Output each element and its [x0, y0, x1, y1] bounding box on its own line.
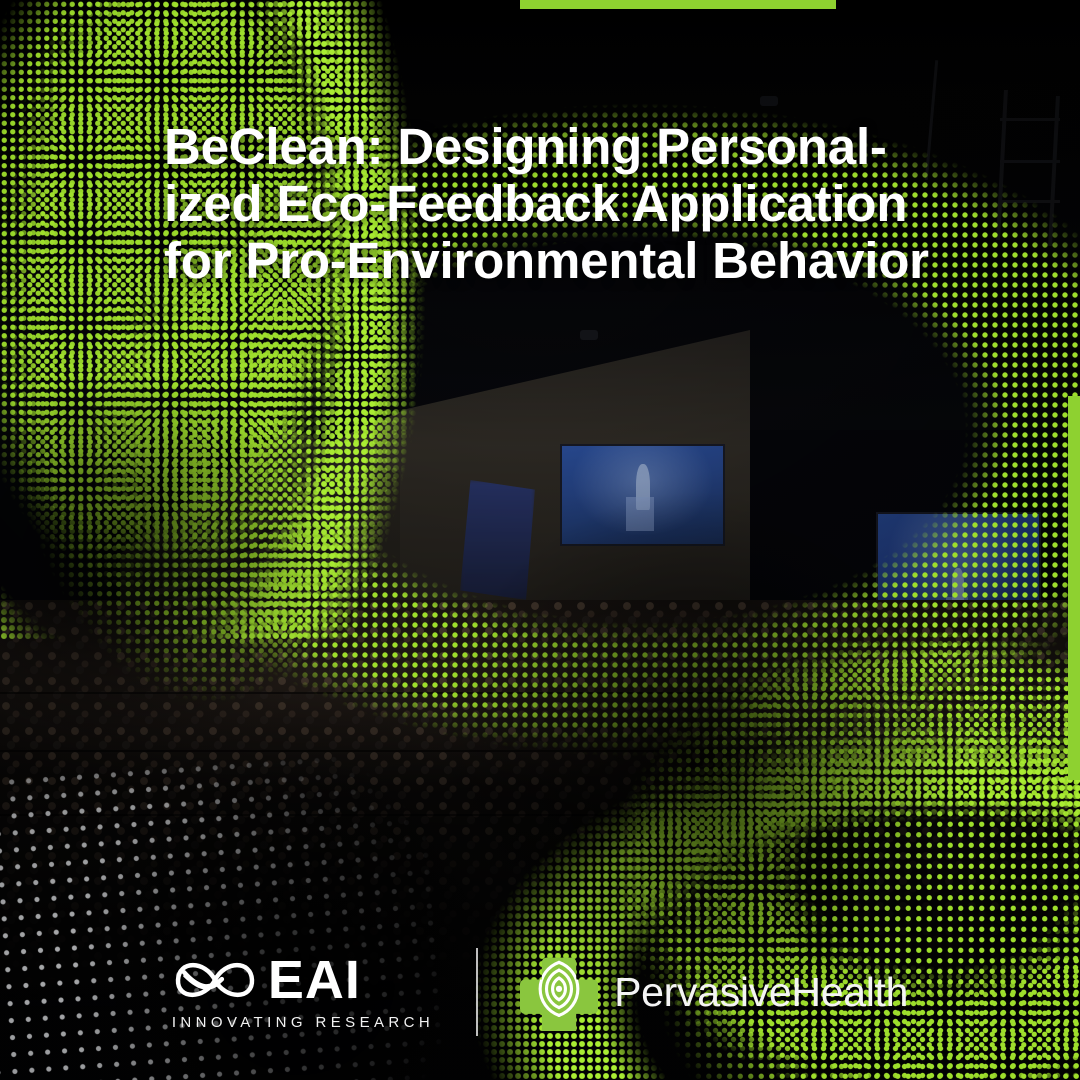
pervasive-health-wordmark: PervasiveHealth [614, 969, 908, 1016]
title-line-3: for Pro-Environmental Behavior [164, 232, 964, 289]
green-cross-signal-icon [520, 953, 598, 1031]
eai-tagline: INNOVATING RESEARCH [172, 1014, 434, 1031]
conference-poster: BeClean: Designing Personal- ized Eco-Fe… [0, 0, 1080, 1080]
title-line-2: ized Eco-Feedback Application [164, 175, 964, 232]
logo-divider [476, 948, 478, 1036]
pervasive-health-logo: PervasiveHealth [520, 953, 908, 1031]
wave-edge-highlight-left [0, 0, 460, 640]
infinity-loop-icon [172, 953, 258, 1007]
top-accent-bar [520, 0, 836, 9]
eai-wordmark: EAI [268, 953, 361, 1007]
right-accent-bar [1068, 396, 1080, 780]
title-line-1: BeClean: Designing Personal- [164, 118, 964, 175]
poster-title: BeClean: Designing Personal- ized Eco-Fe… [164, 118, 964, 289]
eai-logo-row: EAI [172, 953, 361, 1007]
footer-logo-row: EAI INNOVATING RESEARCH [0, 948, 1080, 1036]
eai-logo: EAI INNOVATING RESEARCH [172, 953, 434, 1031]
